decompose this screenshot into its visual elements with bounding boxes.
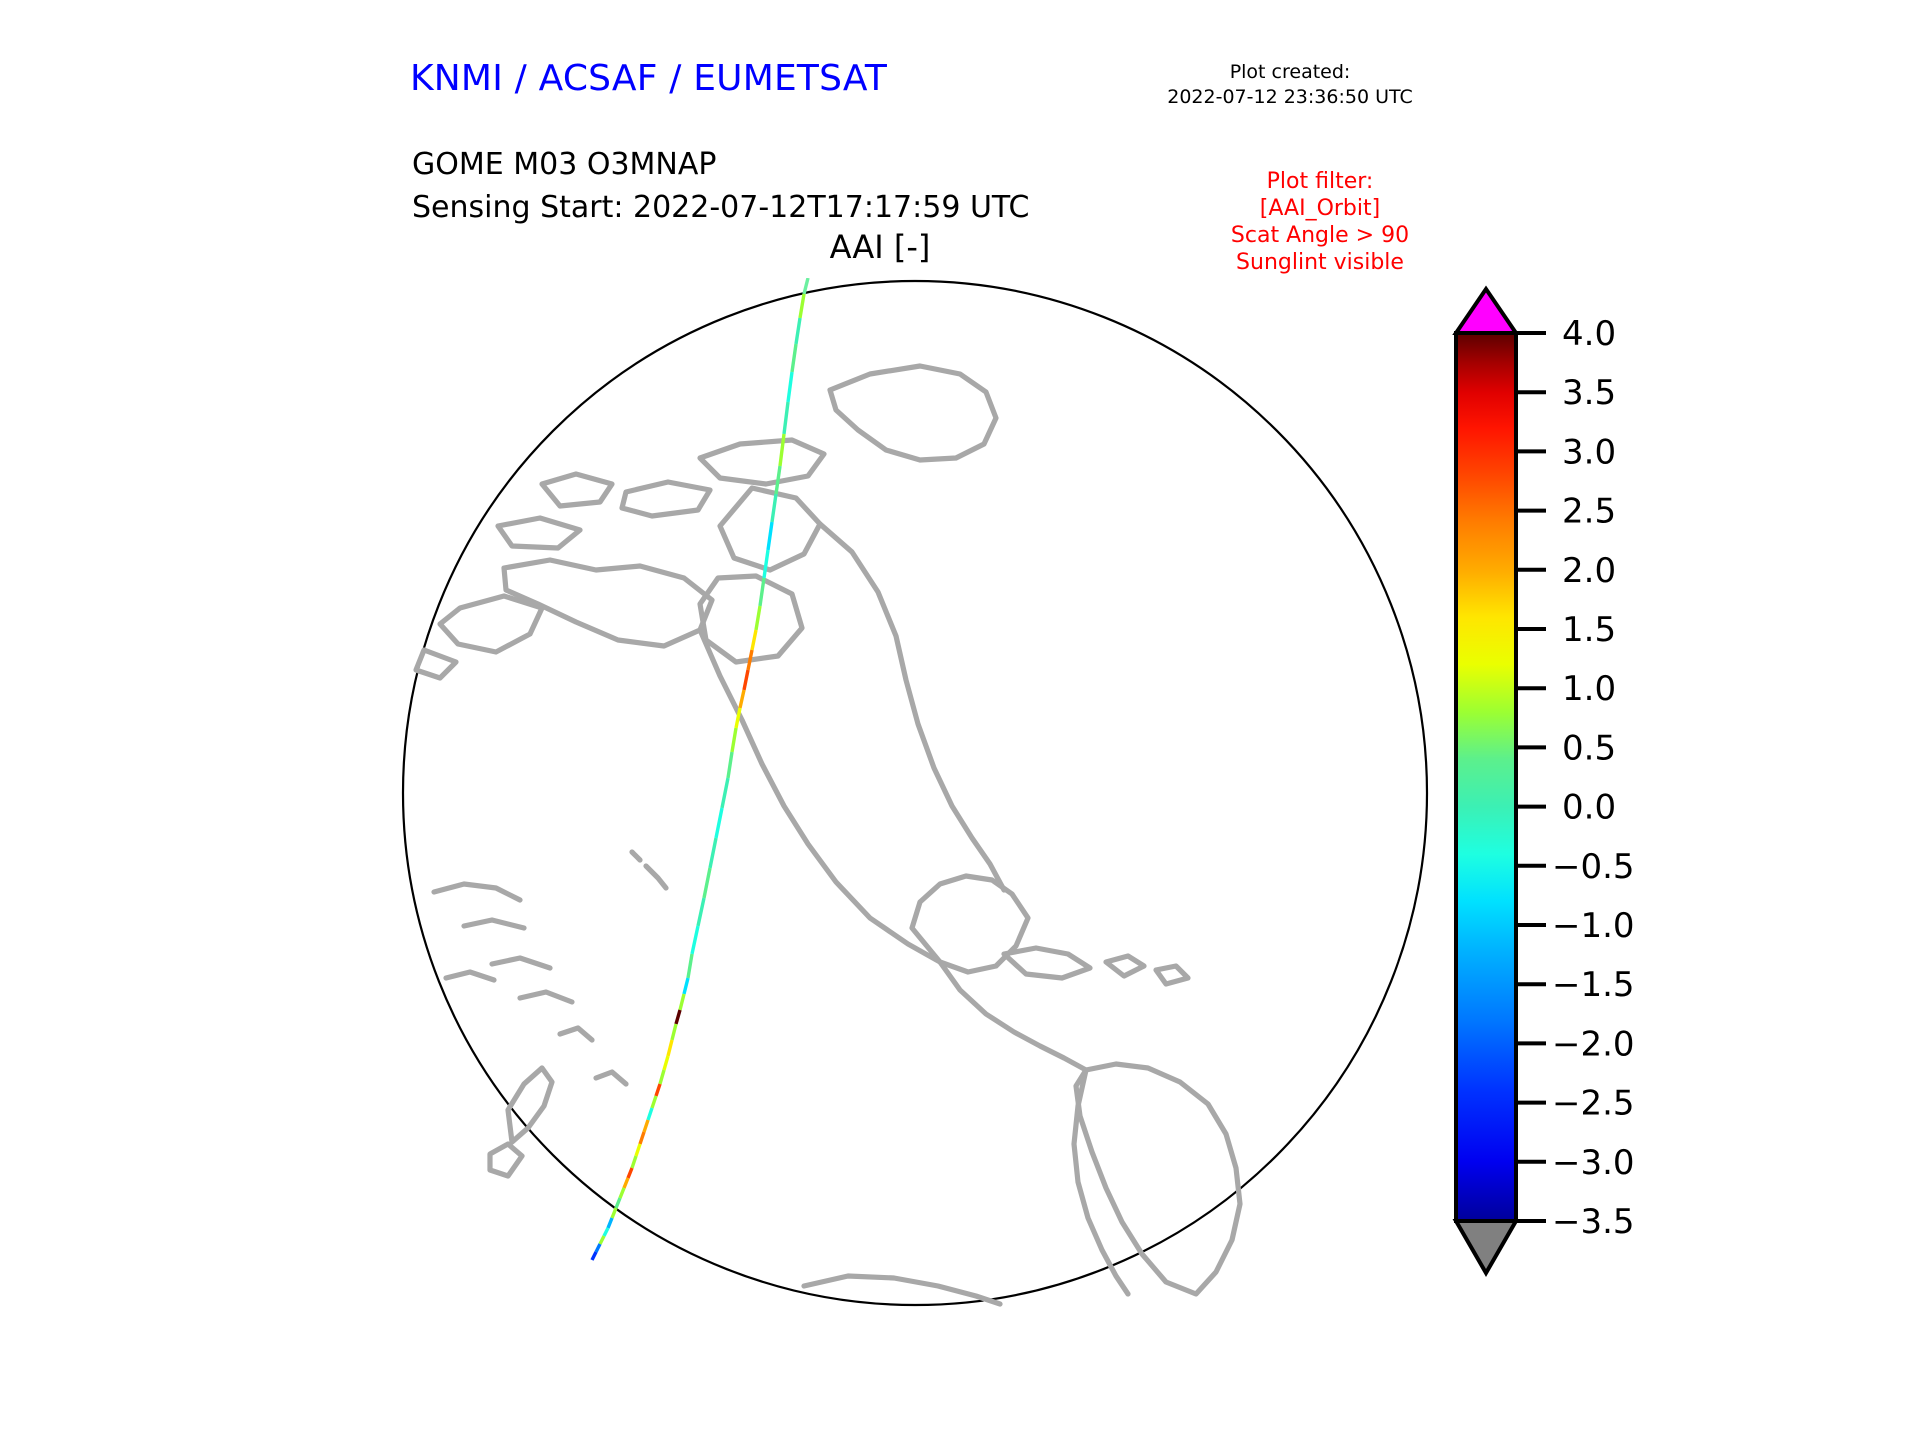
plot-filter-title: Plot filter: — [1170, 168, 1470, 195]
colorbar-gradient-bar — [1456, 333, 1516, 1221]
colorbar-under-arrow — [1456, 1221, 1516, 1273]
colorbar-tick-label: −3.5 — [1552, 1202, 1635, 1242]
plot-filter-line-1: [AAI_Orbit] — [1170, 195, 1470, 222]
colorbar-tick-label: −3.0 — [1552, 1143, 1635, 1183]
colorbar-tick-label: 0.0 — [1562, 788, 1616, 828]
colorbar-tick-label: 1.0 — [1562, 669, 1616, 709]
plot-filter-line-3: Sunglint visible — [1170, 249, 1470, 276]
colorbar: 4.0 3.5 3.0 2.5 2.0 1.5 1.0 0.5 0.0 −0.5… — [1438, 285, 1858, 1305]
page-title-organizations: KNMI / ACSAF / EUMETSAT — [410, 58, 887, 99]
colorbar-tick-label: 3.0 — [1562, 432, 1616, 472]
colorbar-tick-label: 4.0 — [1562, 314, 1616, 354]
colorbar-tick-label: −1.0 — [1552, 906, 1635, 946]
colorbar-tick-label: 3.5 — [1562, 373, 1616, 413]
plot-filter-line-2: Scat Angle > 90 — [1170, 222, 1470, 249]
colorbar-tick-label: 2.5 — [1562, 492, 1616, 532]
chart-title: AAI [-] — [600, 228, 1160, 266]
plot-created-value: 2022-07-12 23:36:50 UTC — [1100, 85, 1480, 110]
colorbar-tick-label: 1.5 — [1562, 610, 1616, 650]
product-info-block: GOME M03 O3MNAP Sensing Start: 2022-07-1… — [412, 143, 1029, 229]
colorbar-tick-labels: 4.0 3.5 3.0 2.5 2.0 1.5 1.0 0.5 0.0 −0.5… — [1552, 314, 1635, 1242]
plot-filter-block: Plot filter: [AAI_Orbit] Scat Angle > 90… — [1170, 168, 1470, 276]
sensing-start: Sensing Start: 2022-07-12T17:17:59 UTC — [412, 186, 1029, 229]
colorbar-tick-label: −2.5 — [1552, 1084, 1635, 1124]
colorbar-tick-label: −2.0 — [1552, 1024, 1635, 1064]
map-plot-area — [400, 278, 1430, 1308]
colorbar-tick-label: 0.5 — [1562, 728, 1616, 768]
colorbar-ticks — [1516, 333, 1546, 1221]
product-name: GOME M03 O3MNAP — [412, 143, 1029, 186]
colorbar-tick-label: −1.5 — [1552, 965, 1635, 1005]
plot-created-block: Plot created: 2022-07-12 23:36:50 UTC — [1100, 60, 1480, 110]
colorbar-over-arrow — [1456, 289, 1516, 333]
plot-created-label: Plot created: — [1100, 60, 1480, 85]
colorbar-tick-label: −0.5 — [1552, 847, 1635, 887]
globe-outline — [403, 281, 1427, 1305]
colorbar-tick-label: 2.0 — [1562, 551, 1616, 591]
